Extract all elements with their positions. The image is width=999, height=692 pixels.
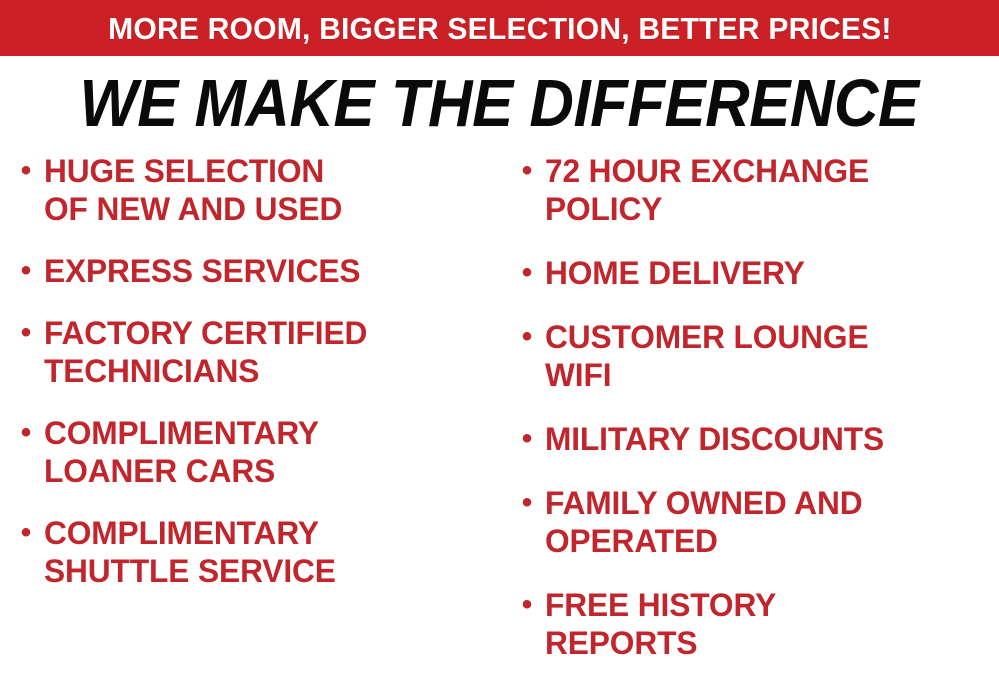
bullet-icon: • <box>14 514 38 552</box>
list-item: • FACTORY CERTIFIED TECHNICIANS <box>14 314 505 390</box>
list-item: • EXPRESS SERVICES <box>14 252 505 290</box>
list-item-label: COMPLIMENTARY LOANER CARS <box>38 414 500 490</box>
headline-container: WE MAKE THE DIFFERENCE <box>0 62 999 144</box>
benefits-column-right: • 72 HOUR EXCHANGE POLICY • HOME DELIVER… <box>505 152 999 688</box>
list-item-label: CUSTOMER LOUNGE WIFI <box>539 318 994 394</box>
bullet-icon: • <box>14 414 38 452</box>
benefits-columns: • HUGE SELECTION OF NEW AND USED • EXPRE… <box>0 152 999 692</box>
list-item: • 72 HOUR EXCHANGE POLICY <box>515 152 999 228</box>
benefits-column-left: • HUGE SELECTION OF NEW AND USED • EXPRE… <box>0 152 505 614</box>
list-item-label: 72 HOUR EXCHANGE POLICY <box>539 152 994 228</box>
bullet-icon: • <box>515 254 539 292</box>
bullet-icon: • <box>515 586 539 624</box>
bullet-icon: • <box>515 318 539 356</box>
list-item: • FREE HISTORY REPORTS <box>515 586 999 662</box>
promo-banner-text: MORE ROOM, BIGGER SELECTION, BETTER PRIC… <box>108 13 892 44</box>
list-item: • MILITARY DISCOUNTS <box>515 420 999 458</box>
list-item: • CUSTOMER LOUNGE WIFI <box>515 318 999 394</box>
list-item: • HUGE SELECTION OF NEW AND USED <box>14 152 505 228</box>
list-item-label: COMPLIMENTARY SHUTTLE SERVICE <box>38 514 500 590</box>
list-item-label: EXPRESS SERVICES <box>38 252 500 290</box>
list-item: • FAMILY OWNED AND OPERATED <box>515 484 999 560</box>
list-item-label: HOME DELIVERY <box>539 254 994 292</box>
list-item-label: FREE HISTORY REPORTS <box>539 586 994 662</box>
bullet-icon: • <box>515 420 539 458</box>
bullet-icon: • <box>14 152 38 190</box>
bullet-icon: • <box>515 152 539 190</box>
list-item-label: FACTORY CERTIFIED TECHNICIANS <box>38 314 500 390</box>
promo-banner: MORE ROOM, BIGGER SELECTION, BETTER PRIC… <box>0 0 999 56</box>
list-item-label: MILITARY DISCOUNTS <box>539 420 994 458</box>
list-item: • COMPLIMENTARY LOANER CARS <box>14 414 505 490</box>
list-item: • COMPLIMENTARY SHUTTLE SERVICE <box>14 514 505 590</box>
bullet-icon: • <box>515 484 539 522</box>
bullet-icon: • <box>14 314 38 352</box>
page-title: WE MAKE THE DIFFERENCE <box>80 70 919 137</box>
bullet-icon: • <box>14 252 38 290</box>
list-item-label: HUGE SELECTION OF NEW AND USED <box>38 152 500 228</box>
list-item: • HOME DELIVERY <box>515 254 999 292</box>
list-item-label: FAMILY OWNED AND OPERATED <box>539 484 994 560</box>
